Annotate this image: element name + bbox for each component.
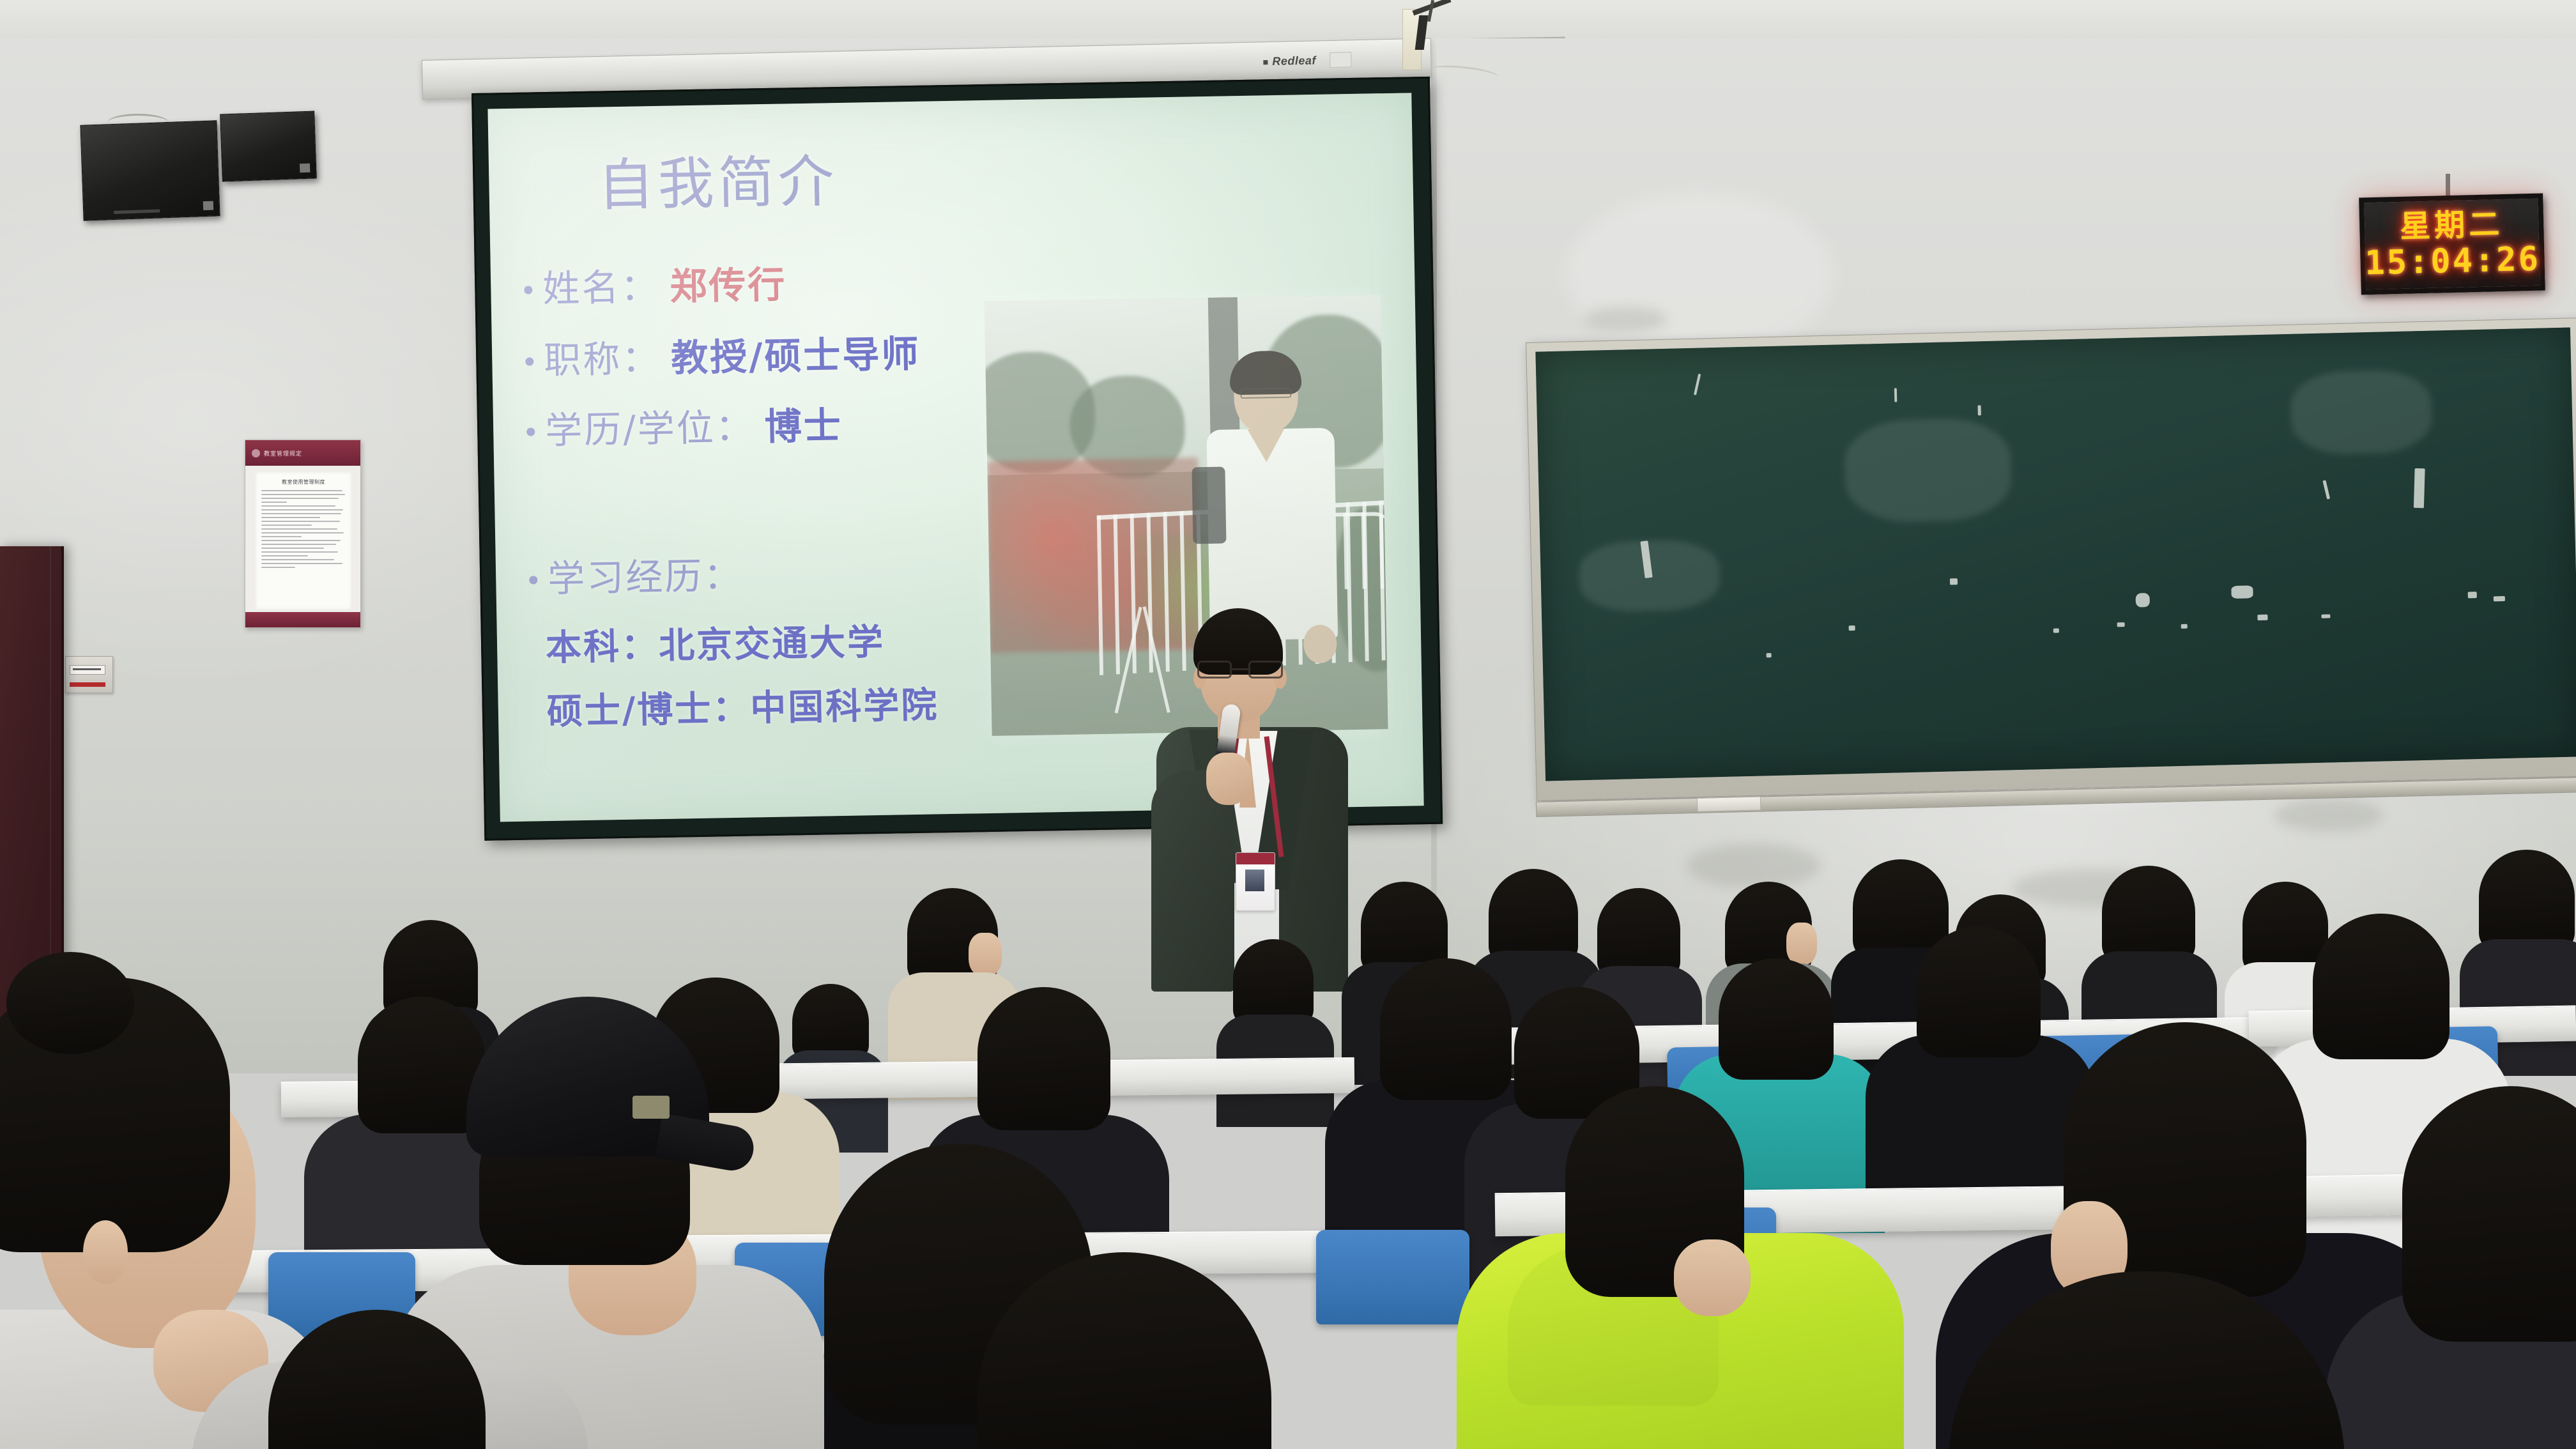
audience-hair-top [6,952,134,1054]
bullet-dot-icon [525,357,533,365]
notice-paper: 教室使用管理制度 [256,472,351,609]
speaker-vent [114,210,160,215]
notice-board-header: 教室管理规定 [245,440,360,466]
speaker-wire [107,114,169,132]
wall-speaker-left [80,120,220,220]
slide-bullet-label: 姓名： [542,257,660,312]
notice-board-header-label: 教室管理规定 [264,449,302,457]
slide-bullet-label: 学习经历： [547,546,742,602]
slide-bullet-degree: 学历/学位： 博士 [526,395,843,455]
chalk-mark [1894,388,1897,402]
wall-scuff [1584,307,1667,332]
chalk-mark [1767,653,1772,657]
slide-subline-graduate: 硕士/博士：中国科学院 [546,676,939,735]
speaker-badge [203,201,213,211]
chalk-eraser [1697,797,1761,812]
bullet-dot-icon [526,427,535,436]
clock-mount-stem [2446,174,2450,198]
photo-person-glasses-icon [1240,388,1291,399]
notice-board-footer [245,612,360,627]
chalk-mark [2414,468,2425,508]
led-wall-clock: 星期二 15:04:26 [2359,194,2545,295]
chalk-smear [1844,417,2012,523]
chalk-mark [2117,622,2125,627]
emblem-icon [252,449,260,457]
door-seam [50,546,51,1019]
blackboard [1526,318,2576,801]
wall-highlight [1565,192,1834,358]
chalk-mark [1694,374,1701,395]
lecture-hall-photo: 教室管理规定 教室使用管理制度 Redleaf [0,0,2576,1449]
speaker-badge [300,164,310,173]
presenter-id-badge [1236,852,1275,911]
chalk-mark [1950,578,1958,585]
glasses-icon [1197,661,1283,680]
wall-speaker-right [220,111,317,181]
slide-subline-bachelor: 本科：北京交通大学 [545,613,885,671]
slide-bullet-label: 学历/学位： [544,397,755,454]
clock-time: 15:04:26 [2365,243,2541,280]
screen-housing-sticker [1330,52,1352,68]
slide-bullet-value: 博士 [764,395,843,450]
blackboard-surface [1535,327,2576,781]
chalk-mark [2053,628,2059,632]
chalk-mark [2468,592,2477,598]
cap-strap [632,1096,670,1119]
presenter-hand [1206,753,1252,805]
chalk-smear [2290,369,2432,456]
audience-neck [1674,1239,1751,1316]
slide-bullet-education: 学习经历： [528,546,742,603]
notice-paper-body [261,490,346,568]
wall-switch-panel[interactable] [65,656,113,693]
slide-bullet-label: 职称： [543,328,661,384]
wall-scuff [2274,799,2383,832]
chalk-mark [2257,615,2267,620]
bullet-dot-icon [524,286,532,294]
wall-scuff [1687,843,1821,888]
bullet-dot-icon [529,576,537,584]
chalk-mark [2494,596,2505,601]
chalk-mark [1849,625,1855,631]
slide-title: 自我简介 [597,136,838,222]
chalk-mark [2321,614,2330,618]
clock-weekday: 星期二 [2400,209,2504,242]
slide-bullet-title: 职称： 教授/硕士导师 [525,324,921,385]
audience-ear [83,1220,128,1284]
screen-brand-label: Redleaf [1272,54,1316,68]
chair-back [1316,1230,1469,1324]
classroom-door[interactable] [0,546,64,1019]
chalk-mark [1978,405,1981,415]
presenter [1146,608,1357,992]
wall-notice-board: 教室管理规定 教室使用管理制度 [245,440,361,628]
chalk-mark [2181,624,2188,629]
chalk-mark [2322,480,2330,499]
notice-paper-title: 教室使用管理制度 [261,479,346,486]
slide-bullet-name: 姓名： 郑传行 [524,254,787,312]
chalk-mark [2231,585,2253,599]
slide-bullet-value: 郑传行 [670,254,787,310]
slide-bullet-value: 教授/硕士导师 [670,324,921,382]
chalk-mark [2136,593,2150,608]
photo-person-arm-shadow [1192,467,1226,544]
chalk-smear [1578,539,1721,613]
